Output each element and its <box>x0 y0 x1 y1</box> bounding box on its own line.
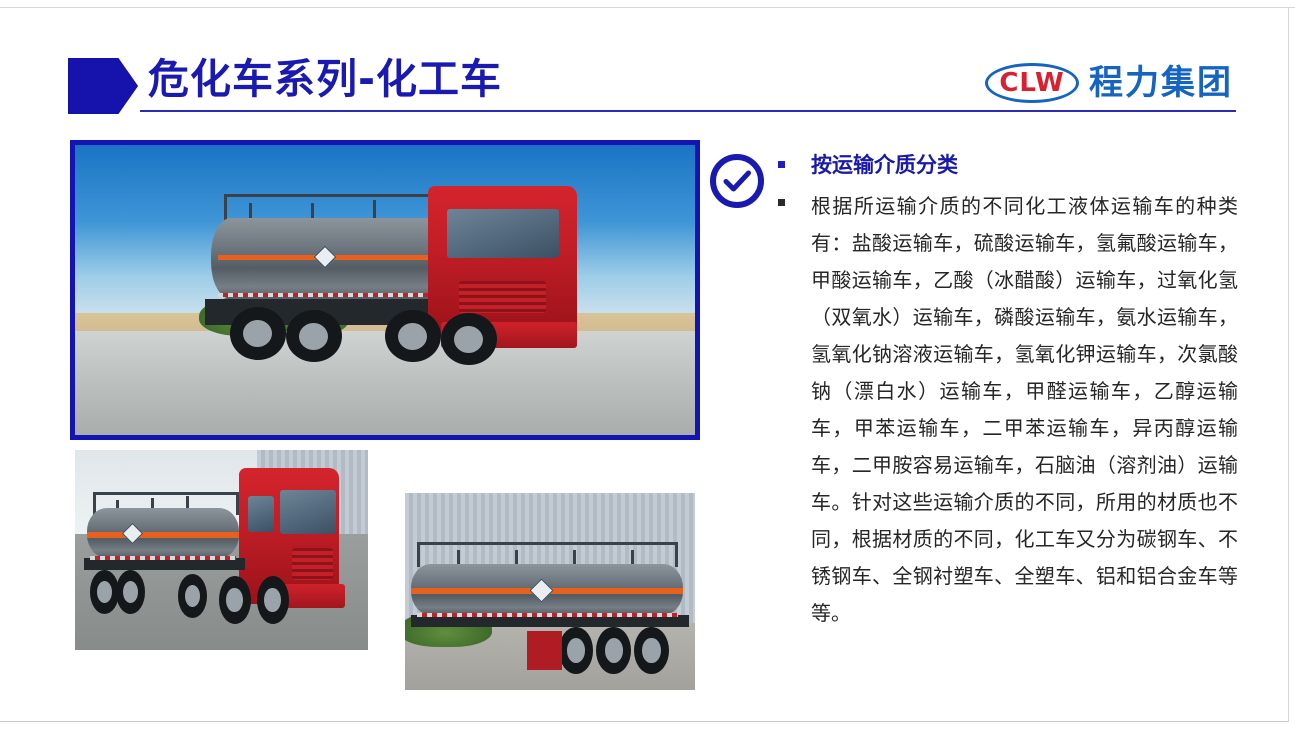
check-circle-icon <box>708 152 766 210</box>
photo-wheel <box>178 574 207 618</box>
photo-grille <box>292 548 333 580</box>
photo-reflective-strip <box>417 613 678 617</box>
photo-side-window <box>248 496 274 532</box>
brand-company-name: 程力集团 <box>1089 64 1233 102</box>
content-text-block: 按运输介质分类 根据所运输介质的不同化工液体运输车的种类有：盐酸运输车，硫酸运输… <box>778 150 1238 632</box>
page-frame-bottom-border <box>0 721 1289 722</box>
section-body-paragraph: 根据所运输介质的不同化工液体运输车的种类有：盐酸运输车，硫酸运输车，氢氟酸运输车… <box>811 188 1238 632</box>
photo-wheel <box>634 627 669 674</box>
pentagon-blue-body <box>68 58 138 114</box>
section-heading: 按运输介质分类 <box>811 150 958 180</box>
photo-wheel <box>90 570 119 614</box>
page-title: 危化车系列-化工车 <box>148 53 502 105</box>
logo-clw-text: CLW <box>985 63 1079 103</box>
heading-bullet-row: 按运输介质分类 <box>778 150 1238 180</box>
photo-reflective-strip <box>90 556 237 560</box>
slide-canvas: 危化车系列-化工车 CLW 程力集团 <box>0 0 1295 731</box>
brand-logo: CLW 程力集团 <box>985 63 1233 103</box>
page-frame-top-border <box>0 7 1295 8</box>
photo-road <box>75 331 695 435</box>
photo-wheel <box>385 310 441 362</box>
photo-tank-orange-stripe <box>87 532 239 538</box>
title-underline-rule <box>140 110 1236 112</box>
chemical-tanker-truck-main-photo <box>70 140 700 440</box>
photo-wheel <box>257 576 289 624</box>
photo-windshield <box>280 490 336 534</box>
bullet-square-icon <box>778 199 785 206</box>
bullet-square-icon <box>778 161 785 168</box>
photo-toolbox <box>527 631 562 670</box>
photo-wheel <box>230 307 286 359</box>
body-bullet-row: 根据所运输介质的不同化工液体运输车的种类有：盐酸运输车，硫酸运输车，氢氟酸运输车… <box>778 188 1238 632</box>
photo-wheel <box>219 576 251 624</box>
clw-ellipse-logo-icon: CLW <box>985 63 1079 103</box>
photo-windshield <box>447 209 559 258</box>
page-frame-right-border <box>1288 7 1289 722</box>
photo-grille <box>459 281 546 313</box>
title-pentagon-marker-icon <box>68 58 138 114</box>
photo-wheel <box>441 313 497 365</box>
chemical-tanker-semitrailer-photo <box>405 493 695 690</box>
chemical-tanker-truck-side-photo <box>75 450 368 650</box>
photo-wheel <box>286 310 342 362</box>
